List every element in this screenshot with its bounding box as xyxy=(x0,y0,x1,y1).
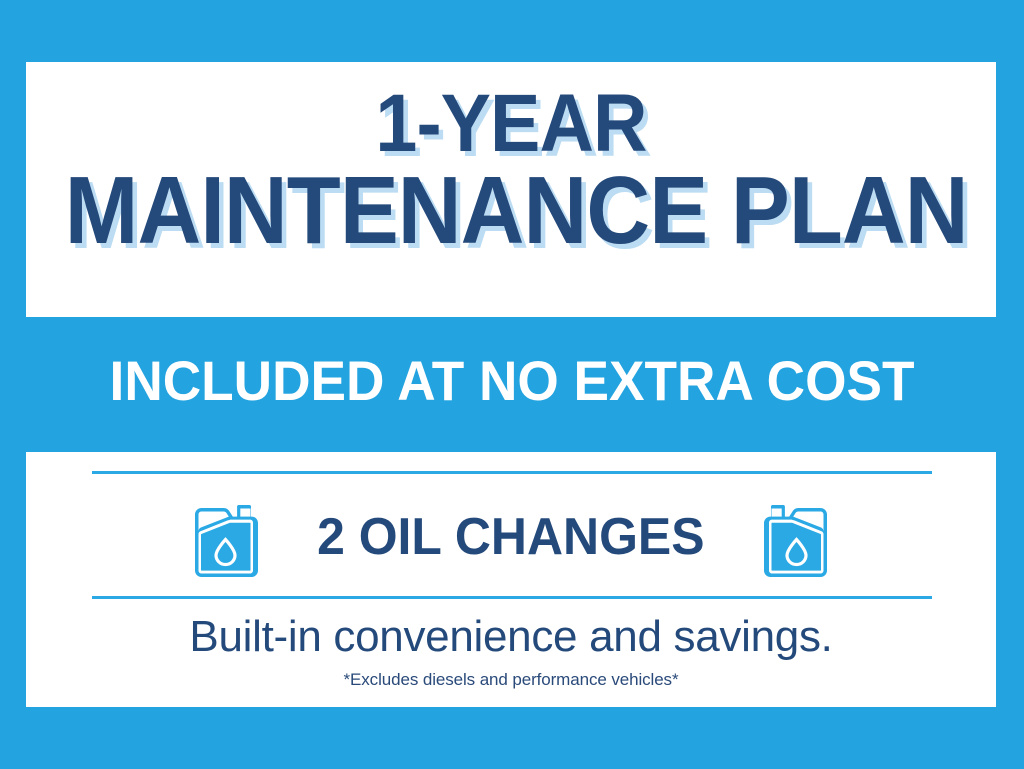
divider-top xyxy=(92,471,932,474)
maintenance-plan-poster: 1-YEAR MAINTENANCE PLAN INCLUDED AT NO E… xyxy=(0,0,1024,769)
divider-bottom xyxy=(92,596,932,599)
headline-panel: 1-YEAR MAINTENANCE PLAN xyxy=(26,62,996,317)
headline-line-2: MAINTENANCE PLAN xyxy=(65,164,957,258)
tagline-text: Built-in convenience and savings. xyxy=(26,612,996,662)
oil-jug-icon xyxy=(187,494,263,580)
headline-line-1: 1-YEAR xyxy=(65,84,957,164)
feature-row: 2 OIL CHANGES xyxy=(26,488,996,586)
details-panel: 2 OIL CHANGES Built-in convenience and s… xyxy=(26,452,996,707)
feature-label: 2 OIL CHANGES xyxy=(317,507,704,567)
subtitle-text: INCLUDED AT NO EXTRA COST xyxy=(26,348,999,413)
disclaimer-text: *Excludes diesels and performance vehicl… xyxy=(26,670,996,690)
page-title: 1-YEAR MAINTENANCE PLAN xyxy=(65,84,957,258)
oil-jug-icon xyxy=(759,494,835,580)
